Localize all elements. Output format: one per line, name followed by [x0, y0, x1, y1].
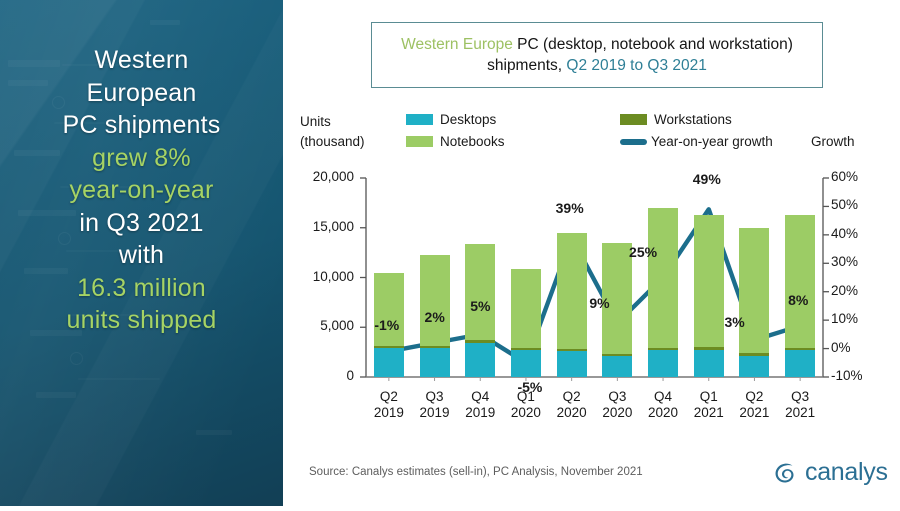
growth-data-label: 5% — [470, 298, 490, 314]
growth-data-label: 8% — [788, 292, 808, 308]
plot-area: 05,00010,00015,00020,000-10%0%10%20%30%4… — [283, 0, 900, 506]
y2-axis-tick-label: 50% — [831, 197, 883, 212]
bar-segment-desktops[interactable] — [557, 351, 587, 377]
x-tick-quarter: Q4 — [637, 389, 689, 405]
bar-segment-workstations[interactable] — [648, 348, 678, 350]
headline-text: WesternEuropeanPC shipmentsgrew 8%year-o… — [0, 44, 283, 337]
bar-segment-notebooks[interactable] — [511, 269, 541, 348]
bar-segment-notebooks[interactable] — [694, 215, 724, 347]
growth-data-label: 3% — [724, 314, 744, 330]
growth-data-label: -1% — [374, 317, 399, 333]
bar-segment-workstations[interactable] — [557, 349, 587, 351]
x-tick-year: 2020 — [500, 405, 552, 421]
bar-segment-notebooks[interactable] — [785, 215, 815, 348]
x-axis-tick-label: Q42020 — [637, 389, 689, 422]
x-tick-year: 2021 — [728, 405, 780, 421]
headline-line-7: with — [0, 239, 283, 272]
canalys-logo-wordmark: canalys — [805, 458, 888, 487]
y-axis-tick-label: 5,000 — [288, 318, 354, 333]
y2-axis-tick-label: 0% — [831, 340, 883, 355]
bar-segment-workstations[interactable] — [739, 353, 769, 356]
x-tick-quarter: Q2 — [546, 389, 598, 405]
bar-segment-desktops[interactable] — [374, 348, 404, 377]
slide-root: WesternEuropeanPC shipmentsgrew 8%year-o… — [0, 0, 900, 506]
x-axis-tick-label: Q12020 — [500, 389, 552, 422]
growth-data-label: 9% — [589, 295, 609, 311]
y-axis-tick-label: 20,000 — [288, 169, 354, 184]
x-tick-quarter: Q3 — [409, 389, 461, 405]
x-tick-quarter: Q3 — [591, 389, 643, 405]
headline-line-8: 16.3 million — [0, 272, 283, 305]
bar-segment-workstations[interactable] — [694, 347, 724, 350]
y2-axis-tick-label: -10% — [831, 368, 883, 383]
bar-segment-notebooks[interactable] — [648, 208, 678, 348]
y2-axis-tick-label: 40% — [831, 226, 883, 241]
y-axis-tick-label: 15,000 — [288, 219, 354, 234]
headline-line-3: PC shipments — [0, 109, 283, 142]
x-tick-year: 2020 — [546, 405, 598, 421]
x-tick-year: 2021 — [774, 405, 826, 421]
bar-segment-notebooks[interactable] — [465, 244, 495, 341]
bar-segment-workstations[interactable] — [465, 340, 495, 343]
x-tick-year: 2019 — [409, 405, 461, 421]
growth-data-label: 49% — [693, 171, 721, 187]
x-tick-quarter: Q2 — [728, 389, 780, 405]
growth-data-label: 39% — [556, 200, 584, 216]
bar-segment-workstations[interactable] — [420, 346, 450, 348]
headline-line-1: Western — [0, 44, 283, 77]
bar-segment-desktops[interactable] — [511, 350, 541, 377]
canalys-logo: canalys — [771, 458, 888, 487]
headline-line-9: units shipped — [0, 304, 283, 337]
bar-segment-desktops[interactable] — [420, 348, 450, 377]
y2-axis-tick-label: 10% — [831, 311, 883, 326]
headline-line-6: in Q3 2021 — [0, 207, 283, 240]
left-headline-panel: WesternEuropeanPC shipmentsgrew 8%year-o… — [0, 0, 283, 506]
bar-segment-desktops[interactable] — [602, 356, 632, 377]
x-axis-tick-label: Q32021 — [774, 389, 826, 422]
headline-line-5: year-on-year — [0, 174, 283, 207]
bar-segment-notebooks[interactable] — [557, 233, 587, 349]
x-tick-year: 2019 — [454, 405, 506, 421]
x-tick-quarter: Q1 — [683, 389, 735, 405]
bar-segment-desktops[interactable] — [739, 356, 769, 377]
headline-line-4: grew 8% — [0, 142, 283, 175]
bar-segment-workstations[interactable] — [511, 348, 541, 350]
growth-data-label: 2% — [425, 309, 445, 325]
x-tick-year: 2019 — [363, 405, 415, 421]
x-tick-quarter: Q3 — [774, 389, 826, 405]
bar-segment-notebooks[interactable] — [374, 273, 404, 346]
x-tick-quarter: Q4 — [454, 389, 506, 405]
bar-segment-notebooks[interactable] — [739, 228, 769, 354]
x-tick-quarter: Q1 — [500, 389, 552, 405]
bar-segment-desktops[interactable] — [694, 350, 724, 377]
bar-segment-workstations[interactable] — [602, 354, 632, 356]
bar-segment-notebooks[interactable] — [420, 255, 450, 346]
y-axis-tick-label: 10,000 — [288, 269, 354, 284]
canalys-logo-icon — [771, 459, 799, 487]
x-axis-tick-label: Q22019 — [363, 389, 415, 422]
bar-segment-desktops[interactable] — [465, 343, 495, 377]
x-axis-tick-label: Q32020 — [591, 389, 643, 422]
x-axis-tick-label: Q12021 — [683, 389, 735, 422]
y2-axis-tick-label: 30% — [831, 254, 883, 269]
bar-segment-desktops[interactable] — [648, 350, 678, 377]
bar-segment-workstations[interactable] — [374, 346, 404, 348]
x-tick-quarter: Q2 — [363, 389, 415, 405]
bar-segment-workstations[interactable] — [785, 348, 815, 350]
x-tick-year: 2020 — [591, 405, 643, 421]
chart-panel: Western Europe PC (desktop, notebook and… — [283, 0, 900, 506]
x-axis-tick-label: Q42019 — [454, 389, 506, 422]
y2-axis-tick-label: 20% — [831, 283, 883, 298]
bar-segment-desktops[interactable] — [785, 350, 815, 377]
x-tick-year: 2020 — [637, 405, 689, 421]
headline-line-2: European — [0, 77, 283, 110]
x-axis-tick-label: Q22020 — [546, 389, 598, 422]
growth-data-label: 25% — [629, 244, 657, 260]
x-axis-tick-label: Q32019 — [409, 389, 461, 422]
y2-axis-tick-label: 60% — [831, 169, 883, 184]
y-axis-tick-label: 0 — [288, 368, 354, 383]
x-axis-tick-label: Q22021 — [728, 389, 780, 422]
source-note: Source: Canalys estimates (sell-in), PC … — [309, 466, 643, 478]
x-tick-year: 2021 — [683, 405, 735, 421]
